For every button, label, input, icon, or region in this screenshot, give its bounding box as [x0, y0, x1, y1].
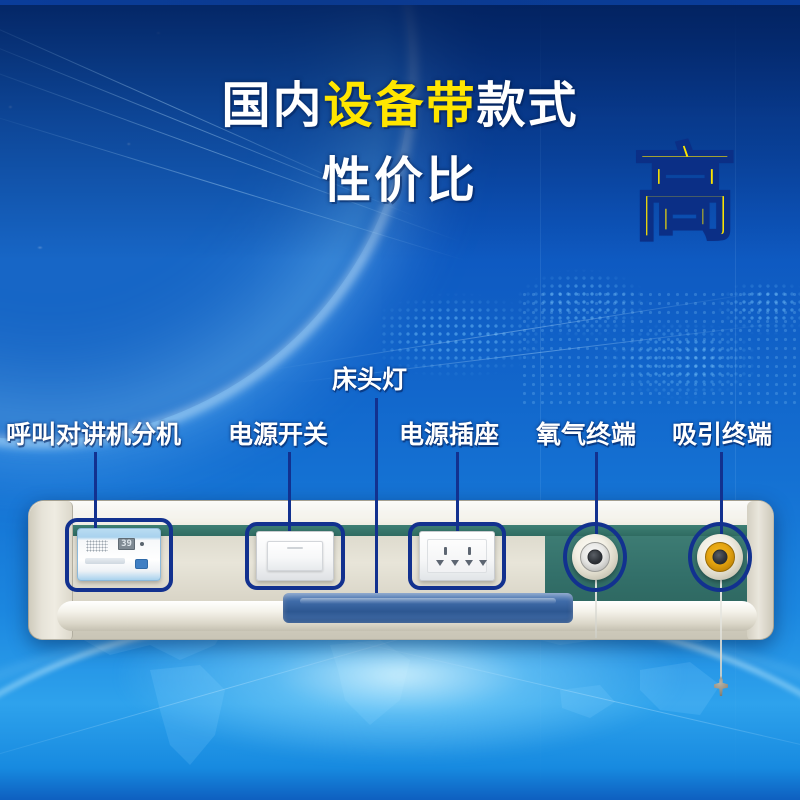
highlight-intercom: [65, 518, 173, 592]
label-bed-light: 床头灯: [332, 360, 407, 396]
label-oxygen-terminal: 氧气终端: [536, 415, 636, 451]
suction-cord: [720, 580, 722, 690]
label-nurse-call-intercom: 呼叫对讲机分机: [6, 415, 181, 451]
callout-labels: 呼叫对讲机分机 电源开关 床头灯 电源插座 氧气终端 吸引终端: [0, 0, 800, 800]
label-suction-terminal: 吸引终端: [672, 415, 772, 451]
highlight-socket: [408, 522, 506, 590]
label-light-switch: 电源开关: [228, 415, 328, 451]
bed-light-strip[interactable]: [283, 593, 573, 623]
highlight-oxygen: [563, 522, 627, 592]
highlight-suction: [688, 522, 752, 592]
highlight-switch: [245, 522, 345, 590]
label-power-socket: 电源插座: [399, 415, 499, 451]
